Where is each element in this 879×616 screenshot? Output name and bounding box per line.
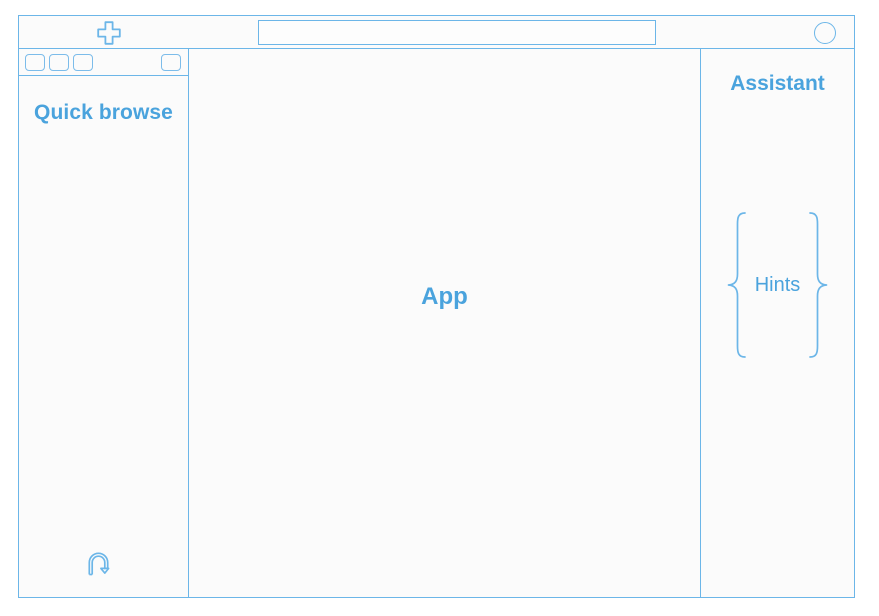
sidebar-content-area [19, 126, 188, 551]
toolbar-button-1[interactable] [25, 54, 45, 71]
body-row: Quick browse App Assistant [19, 49, 854, 597]
sidebar-footer [19, 551, 188, 597]
left-brace-icon [725, 210, 751, 360]
app-window: Quick browse App Assistant [18, 15, 855, 598]
sidebar-heading: Quick browse [19, 100, 188, 126]
assistant-heading: Assistant [701, 72, 854, 96]
u-turn-arrow-icon[interactable] [87, 551, 115, 579]
search-input[interactable] [258, 20, 656, 45]
main-content-panel: App [189, 49, 701, 597]
circle-avatar-icon[interactable] [814, 22, 836, 44]
toolbar-button-3[interactable] [73, 54, 93, 71]
hints-label: Hints [751, 274, 805, 297]
hints-group: Hints [701, 209, 854, 361]
sidebar-panel: Quick browse [19, 49, 189, 597]
plus-icon[interactable] [96, 20, 122, 46]
toolbar-button-2[interactable] [49, 54, 69, 71]
right-brace-icon [804, 210, 830, 360]
toolbar-button-4[interactable] [161, 54, 181, 71]
top-bar [19, 16, 854, 49]
main-content-label: App [421, 283, 468, 311]
assistant-panel: Assistant Hints [701, 49, 854, 597]
sidebar-toolbar [19, 49, 188, 76]
wireframe-screen: Quick browse App Assistant [0, 0, 879, 616]
